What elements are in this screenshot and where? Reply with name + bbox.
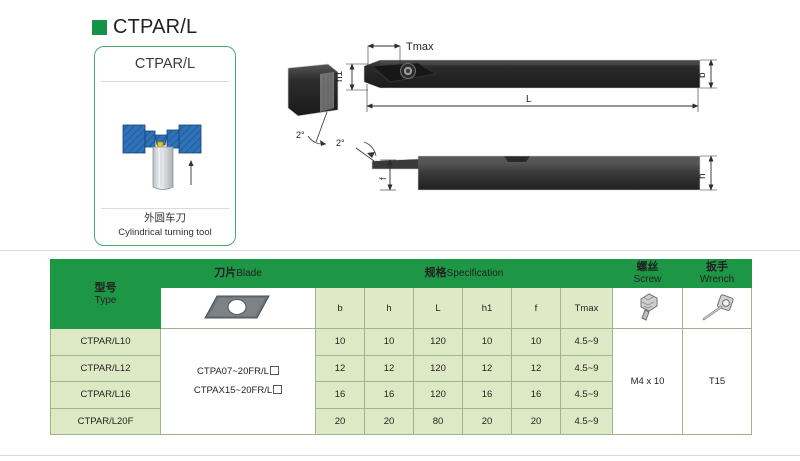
dimension-label-h: h — [697, 173, 708, 179]
cell-type: CTPAR/L10 — [51, 329, 161, 356]
cell-blade: CTPA07~20FR/L CTPAX15~20FR/L — [161, 329, 316, 435]
screw-icon — [631, 291, 665, 323]
cell-h: 10 — [365, 329, 414, 356]
page-title: CTPAR/L — [92, 17, 197, 37]
cell-h: 12 — [365, 355, 414, 382]
illustration-caption-en: Cylindrical turning tool — [95, 227, 235, 238]
cell-h1: 20 — [463, 408, 512, 435]
cell-f: 12 — [512, 355, 561, 382]
divider — [101, 208, 229, 209]
blade-icon-cell — [161, 288, 316, 329]
cell-L: 80 — [414, 408, 463, 435]
cell-screw: M4 x 10 — [613, 329, 683, 435]
table-header-row-1: 型号 Type 刀片Blade 规格Specification 螺丝 Screw… — [51, 260, 752, 288]
divider — [101, 81, 229, 82]
cell-L: 120 — [414, 382, 463, 409]
cell-h1: 10 — [463, 329, 512, 356]
dimension-label-L: L — [526, 94, 532, 105]
dimension-label-tmax: Tmax — [406, 41, 434, 53]
cell-b: 10 — [316, 329, 365, 356]
header-screw: 螺丝 Screw — [613, 260, 683, 288]
header-type: 型号 Type — [51, 260, 161, 329]
cell-h: 20 — [365, 408, 414, 435]
screw-icon-cell — [613, 288, 683, 329]
cylindrical-turning-tool-diagram — [95, 87, 237, 205]
insert-parallelogram-icon — [201, 292, 275, 322]
header-col-h: h — [365, 288, 414, 329]
cell-type: CTPAR/L12 — [51, 355, 161, 382]
angle-label-side: 2° — [336, 138, 345, 148]
cell-wrench: T15 — [683, 329, 752, 435]
blade-line-2: CTPAX15~20FR/L — [161, 382, 315, 400]
header-col-b: b — [316, 288, 365, 329]
angle-label-insert: 2° — [296, 130, 305, 140]
header-specification: 规格Specification — [316, 260, 613, 288]
header-wrench-cn: 扳手 — [683, 261, 751, 274]
header-col-f: f — [512, 288, 561, 329]
specification-table: 型号 Type 刀片Blade 规格Specification 螺丝 Screw… — [50, 259, 752, 435]
cell-b: 12 — [316, 355, 365, 382]
dimension-label-f: f — [378, 177, 389, 180]
header-wrench-en: Wrench — [683, 274, 751, 286]
illustration-caption-cn: 外圆车刀 — [95, 210, 235, 225]
illustration-card-title: CTPAR/L — [95, 56, 235, 72]
cell-h1: 12 — [463, 355, 512, 382]
header-col-h1: h1 — [463, 288, 512, 329]
technical-drawing: 2° Tmax h1 b L — [268, 38, 788, 238]
header-col-tmax: Tmax — [561, 288, 613, 329]
page-title-text: CTPAR/L — [113, 17, 197, 37]
header-col-L: L — [414, 288, 463, 329]
cell-L: 120 — [414, 355, 463, 382]
wrench-icon — [697, 291, 737, 323]
illustration-card: CTPAR/L 外圆车刀 Cylindri — [94, 46, 236, 246]
cell-L: 120 — [414, 329, 463, 356]
header-screw-cn: 螺丝 — [613, 261, 682, 274]
header-specification-cn: 规格 — [425, 267, 447, 279]
wrench-icon-cell — [683, 288, 752, 329]
header-type-en: Type — [51, 295, 160, 307]
header-blade-en: Blade — [236, 268, 262, 279]
dimension-label-b: b — [697, 72, 708, 78]
blade-line-2-text: CTPAX15~20FR/L — [194, 385, 272, 396]
header-specification-en: Specification — [447, 268, 504, 279]
title-bullet-icon — [92, 20, 107, 35]
blade-line-1-text: CTPA07~20FR/L — [197, 366, 269, 377]
header-blade-cn: 刀片 — [214, 267, 236, 279]
blade-square-box-icon — [270, 366, 279, 375]
blade-square-box-icon — [273, 385, 282, 394]
divider — [0, 250, 800, 251]
cell-h1: 16 — [463, 382, 512, 409]
cell-f: 20 — [512, 408, 561, 435]
cell-tmax: 4.5~9 — [561, 408, 613, 435]
cell-f: 10 — [512, 329, 561, 356]
blade-line-1: CTPA07~20FR/L — [161, 363, 315, 381]
cell-type: CTPAR/L20F — [51, 408, 161, 435]
table-row: CTPAR/L10 CTPA07~20FR/L CTPAX15~20FR/L 1… — [51, 329, 752, 356]
header-blade: 刀片Blade — [161, 260, 316, 288]
cell-b: 20 — [316, 408, 365, 435]
cell-tmax: 4.5~9 — [561, 382, 613, 409]
dimension-label-h1: h1 — [334, 70, 345, 82]
header-type-cn: 型号 — [51, 282, 160, 295]
cell-h: 16 — [365, 382, 414, 409]
cell-type: CTPAR/L16 — [51, 382, 161, 409]
header-screw-en: Screw — [613, 274, 682, 286]
cell-f: 16 — [512, 382, 561, 409]
header-wrench: 扳手 Wrench — [683, 260, 752, 288]
cell-tmax: 4.5~9 — [561, 329, 613, 356]
cell-b: 16 — [316, 382, 365, 409]
cell-tmax: 4.5~9 — [561, 355, 613, 382]
divider — [0, 455, 800, 456]
